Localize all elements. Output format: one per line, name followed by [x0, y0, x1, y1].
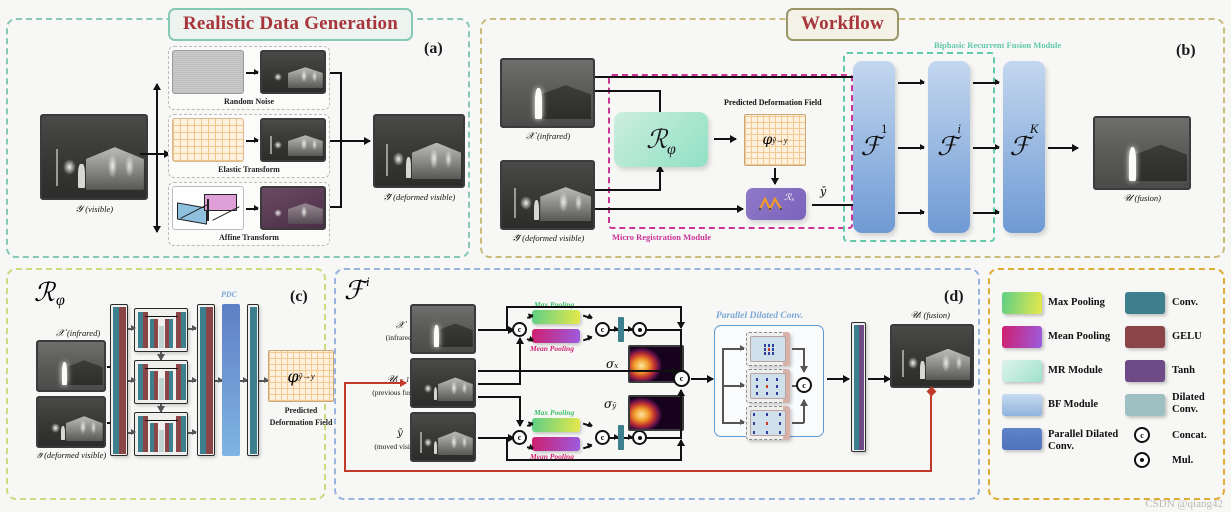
spatial-transform-symbol: ℛ — [784, 192, 791, 203]
panel-c-deformed-image — [36, 396, 106, 448]
panel-d-recurrent-return-vline — [344, 382, 346, 472]
deformed-visible-image — [373, 114, 465, 188]
panel-d-pdc-to-k2 — [722, 385, 744, 387]
legend-label-concat: Concat. — [1172, 430, 1207, 442]
elastic-transform-result — [260, 118, 326, 162]
branch-arrow-bottom — [156, 222, 158, 232]
panel-c-b2-out — [188, 380, 196, 382]
panel-c-b1-to-b2 — [160, 352, 162, 360]
fusion-block-1-exp: 1 — [881, 121, 888, 137]
legend-label-gelu: GELU — [1172, 331, 1202, 343]
panel-d-y-bypass-arrow — [680, 440, 682, 452]
parallel-dilated-conv-swatch — [1002, 428, 1042, 450]
visible-image-caption: 𝒴 (visible) — [40, 204, 148, 215]
panel-d-mul-bottom — [632, 430, 647, 445]
panel-d-concat3-to-mean — [527, 446, 533, 449]
panel-c-infrared-caption: 𝒳 (infrared) — [34, 328, 122, 339]
deformation-field-subscript: ỹ→y — [772, 136, 787, 145]
panel-d-concat-to-pdc — [691, 378, 713, 380]
random-noise-arrow — [246, 72, 258, 74]
panel-c-deformed-subtitle: (deformed visible) — [44, 450, 106, 460]
panel-d-u-to-concat1-vline — [519, 345, 521, 385]
deformed-to-st-arrow — [595, 208, 743, 210]
deformed-to-mr-line — [595, 189, 661, 191]
panel-c-output-caption-1: Predicted — [262, 406, 340, 415]
mul-icon — [1134, 452, 1150, 468]
panel-d-recurrent-vline — [930, 392, 932, 472]
panel-d-head-to-output — [868, 378, 890, 380]
panel-d-concat4-to-conv-bottom — [610, 437, 618, 439]
panel-d-concat-3: c — [512, 430, 527, 445]
panel-d-y-bypass-vline — [506, 437, 508, 461]
panel-c-conv-to-output — [259, 380, 268, 382]
spatial-transform-block: ℛs — [746, 188, 806, 220]
panel-b-title: Workflow — [786, 8, 899, 41]
panel-d-tag: (d) — [944, 288, 964, 306]
panel-c-stem-to-b3 — [128, 432, 135, 434]
affine-transform-arrow — [246, 208, 258, 210]
workflow-fusion-symbol: 𝒰 — [1123, 193, 1132, 204]
panel-c-stem-block — [110, 304, 128, 456]
panel-d-mean-pool-label-top: Mean Pooling — [530, 344, 574, 353]
panel-d-concat3-to-max — [527, 423, 533, 426]
panel-d-output-head — [851, 322, 866, 452]
biphasic-fusion-module-label: Biphasic Recurrent Fusion Module — [934, 40, 1061, 50]
panel-c-infrared-image — [36, 340, 106, 392]
watermark: CSDN @qiang42 — [1145, 498, 1223, 510]
panel-d-y-bypass-line — [506, 459, 682, 461]
affine-transform-label: Affine Transform — [168, 233, 330, 242]
visible-image — [40, 114, 148, 200]
panel-d-title-exp: i — [366, 274, 370, 290]
panel-d-input-y-symbol: ȳ — [397, 428, 403, 439]
panel-d-output-index: i — [919, 312, 921, 320]
panel-d-x-bypass-vline — [506, 308, 508, 330]
panel-c-infrared-subtitle: (infrared) — [67, 328, 100, 338]
panel-c-title-subscript: φ — [56, 292, 65, 310]
panel-c-b2-to-b3 — [160, 404, 162, 412]
panel-c-infrared-symbol: 𝒳 — [56, 328, 65, 339]
panel-c-pdc-label: PDC — [221, 290, 237, 299]
fusion-block-k-exp: K — [1030, 121, 1039, 137]
panel-d-recurrent-hline — [344, 470, 932, 472]
panel-d-pdc-to-k1 — [722, 348, 744, 350]
moved-visible-symbol: ȳ — [820, 185, 826, 198]
branch-arrow-top — [156, 84, 158, 94]
legend-label-bf-module: BF Module — [1048, 399, 1098, 411]
panel-c-merge-to-pdc — [215, 380, 222, 382]
workflow-deformed-visible-symbol: 𝒴̃ — [512, 233, 520, 244]
panel-d-pdc-to-k3 — [722, 422, 744, 424]
workflow-deformed-visible-image — [500, 160, 595, 230]
workflow-deformed-visible-caption: 𝒴̃ (deformed visible) — [484, 233, 612, 244]
dilated-conv-swatch — [1125, 394, 1165, 416]
panel-d-output-caption: 𝒰i (fusion) — [882, 310, 978, 321]
panel-d-pdc-to-head — [827, 378, 849, 380]
tanh-swatch — [1125, 360, 1165, 382]
legend-label-dilated-conv: Dilated Conv. — [1172, 392, 1218, 416]
spatial-transform-subscript: s — [791, 196, 794, 203]
panel-c-merge-block — [197, 304, 215, 456]
fusion-block-1: ℱ1 — [853, 61, 895, 233]
panel-d-mul-bottom-to-concat — [680, 390, 682, 404]
panel-d-dilated-kernel-1 — [746, 332, 790, 366]
concat-icon: c — [1134, 427, 1150, 443]
panel-d-input-x-symbol: 𝒳 — [396, 320, 405, 331]
panel-d-x-bypass-line — [506, 306, 682, 308]
panel-d-concat-1: c — [512, 322, 527, 337]
panel-d-mean-pool-top — [532, 329, 580, 343]
fi-to-fk-arrow-bot — [973, 212, 999, 214]
workflow-fusion-caption: 𝒰 (fusion) — [1090, 193, 1194, 204]
mean-pooling-swatch — [1002, 326, 1042, 348]
max-pooling-swatch — [1002, 292, 1042, 314]
mr-module-swatch — [1002, 360, 1042, 382]
panel-d-mean-pool-bottom — [532, 437, 580, 451]
panel-d-fusion-output-image — [890, 324, 974, 388]
elastic-transform-label: Elastic Transform — [168, 165, 330, 174]
workflow-infrared-caption: 𝒳 (infrared) — [492, 131, 604, 142]
affine-transform-result — [260, 186, 326, 230]
panel-d-moved-visible-image — [410, 412, 476, 462]
panel-d-x-to-concat1 — [478, 329, 514, 331]
panel-d-u-to-concat1-arrow — [519, 338, 521, 350]
random-noise-result — [260, 50, 326, 94]
fusion-block-i: ℱi — [928, 61, 970, 233]
bf-module-swatch — [1002, 394, 1042, 416]
elastic-grid-tile — [172, 118, 244, 162]
merge-bot-line — [330, 206, 342, 208]
fi-to-fk-arrow-mid — [973, 147, 999, 149]
workflow-deformed-visible-subtitle: (deformed visible) — [522, 233, 584, 243]
panel-c-tag: (c) — [290, 288, 308, 306]
conv-swatch — [1125, 292, 1165, 314]
panel-d-concat-4: c — [595, 430, 610, 445]
legend-label-conv: Conv. — [1172, 297, 1198, 309]
panel-d-max-pool-bottom — [532, 418, 580, 432]
workflow-infrared-symbol: 𝒳 — [526, 131, 535, 142]
deformation-field-tile: φỹ→y — [744, 114, 806, 166]
panel-c-pdc-to-conv — [240, 380, 247, 382]
panel-d-conv-to-mul-top — [624, 329, 632, 331]
panel-d-x-bypass-arrow — [680, 316, 682, 328]
panel-d-dilated-kernel-3 — [746, 406, 790, 440]
panel-c-final-conv-block — [247, 304, 259, 456]
panel-d-concat1-to-mean — [527, 338, 533, 341]
legend-label-parallel-dilated-conv: Parallel Dilated Conv. — [1048, 429, 1122, 453]
panel-c-b3-out — [188, 432, 196, 434]
fk-to-output-arrow — [1048, 147, 1078, 149]
panel-d-u-to-concat3-arrow — [519, 414, 521, 426]
panel-d-sigma-y-label: σȳ — [604, 397, 616, 411]
deformed-visible-subtitle: (deformed visible) — [393, 192, 455, 202]
panel-d-output-subtitle: (fusion) — [924, 310, 950, 320]
panel-d-previous-fusion-image — [410, 358, 476, 408]
mr-module-block: ℛφ — [614, 112, 708, 167]
elastic-transform-arrow — [246, 140, 258, 142]
panel-d-concat2-to-conv-top — [610, 329, 618, 331]
panel-c-deformed-symbol: 𝒴̃ — [36, 451, 42, 460]
workflow-infrared-subtitle: (infrared) — [537, 131, 570, 141]
merge-top-line — [330, 72, 342, 74]
deformed-visible-symbol: 𝒴̄ — [383, 192, 391, 203]
panel-d-infrared-image — [410, 304, 476, 354]
branch-line-up — [156, 86, 158, 160]
visible-symbol: 𝒴 — [75, 204, 83, 215]
panel-c-output-subscript: ỹ→y — [299, 371, 315, 381]
deformation-to-st-arrow — [774, 168, 776, 184]
branch-arrow-middle — [140, 153, 170, 155]
panel-d-mul-top — [632, 322, 647, 337]
micro-registration-module-label: Micro Registration Module — [612, 232, 711, 242]
mr-module-symbol: ℛ — [646, 125, 667, 155]
legend-label-mul: Mul. — [1172, 455, 1193, 467]
panel-d-concat-2: c — [595, 322, 610, 337]
panel-d-dilated-kernel-2 — [746, 369, 790, 403]
f1-to-fi-arrow-mid — [898, 147, 924, 149]
panel-d-title-symbol: ℱ — [344, 276, 364, 306]
panel-d-max-pool-label-bottom: Max Pooling — [534, 408, 574, 417]
panel-a-tag: (a) — [424, 40, 443, 58]
panel-d-u-to-concat1-line — [478, 383, 520, 385]
warp-zigzag-icon — [758, 196, 784, 212]
panel-d-u-passthrough — [478, 370, 678, 372]
panel-d-conv-to-mul-bottom — [624, 437, 632, 439]
panel-c-b1-out — [188, 328, 196, 330]
panel-d-mul-bottom-out — [646, 437, 682, 439]
visible-subtitle: (visible) — [85, 204, 113, 214]
panel-c-stem-to-b1 — [128, 328, 135, 330]
merge-arrow — [340, 140, 370, 142]
panel-d-max-pool-top — [532, 310, 580, 324]
panel-c-output-caption-2: Deformation Field — [258, 418, 344, 427]
fusion-block-1-symbol: ℱ — [861, 132, 881, 162]
panel-b-tag: (b) — [1176, 42, 1196, 60]
fusion-block-i-exp: i — [957, 121, 961, 137]
predicted-deformation-field-title: Predicted Deformation Field — [724, 98, 822, 107]
panel-d-sigma-x-label: σx — [606, 357, 618, 371]
panel-d-k3-to-concat — [803, 400, 805, 410]
fusion-block-k-symbol: ℱ — [1009, 132, 1029, 162]
panel-c-pdc-block — [222, 304, 240, 456]
f1-to-fi-arrow-bot — [898, 212, 924, 214]
deformation-field-symbol: φ — [763, 132, 773, 148]
panel-d-y-to-concat3 — [478, 437, 514, 439]
mr-to-deformation-arrow — [714, 138, 736, 140]
panel-d-concat-central: c — [673, 370, 690, 387]
infrared-to-fusion-arrow — [595, 76, 863, 78]
panel-c-unet-block-3 — [134, 412, 188, 456]
branch-line-down — [156, 156, 158, 232]
panel-c-deformed-caption: 𝒴̃ (deformed visible) — [20, 450, 122, 461]
panel-d-k1-to-concat — [803, 362, 805, 372]
panel-a-title: Realistic Data Generation — [168, 8, 413, 41]
panel-d-u-to-concat3-line — [478, 396, 520, 398]
fusion-block-i-symbol: ℱ — [937, 132, 957, 162]
affine-cube-icon — [177, 191, 239, 225]
affine-cube-tile — [172, 186, 244, 230]
deformed-visible-caption: 𝒴̄ (deformed visible) — [360, 192, 478, 203]
panel-d-concat-pdc-out: c — [796, 377, 812, 393]
panel-d-pdc-label: Parallel Dilated Conv. — [716, 311, 803, 321]
panel-c-unet-block-2 — [134, 360, 188, 404]
fi-to-fk-arrow-top — [973, 82, 999, 84]
f1-to-fi-arrow-top — [898, 82, 924, 84]
panel-c-stem-to-b2 — [128, 380, 135, 382]
panel-c-unet-block-1 — [134, 308, 188, 352]
legend-label-mean-pooling: Mean Pooling — [1048, 331, 1110, 343]
panel-c-title-symbol: ℛ — [34, 278, 55, 308]
panel-d-output-symbol: 𝒰 — [910, 310, 919, 321]
panel-d-mul-top-out — [646, 329, 682, 331]
panel-c-output-symbol: φ — [287, 367, 298, 386]
legend-label-max-pooling: Max Pooling — [1048, 297, 1105, 309]
legend-label-mr-module: MR Module — [1048, 365, 1103, 377]
workflow-fusion-output-image — [1093, 116, 1191, 190]
fusion-block-k: ℱK — [1003, 61, 1045, 233]
panel-d-concat1-to-max — [527, 315, 533, 318]
random-noise-label: Random Noise — [168, 97, 330, 106]
panel-d-sigma-y-map — [628, 395, 684, 431]
panel-d-recurrent-arrow — [344, 382, 406, 384]
gelu-swatch — [1125, 326, 1165, 348]
workflow-infrared-image — [500, 58, 595, 128]
deformed-to-mr-arrow — [659, 166, 661, 180]
legend-label-tanh: Tanh — [1172, 365, 1195, 377]
infrared-to-mr-line — [595, 90, 661, 92]
random-noise-tile — [172, 50, 244, 94]
workflow-fusion-subtitle: (fusion) — [1135, 193, 1161, 203]
mr-module-subscript: φ — [667, 141, 676, 159]
panel-c-deformation-field: φỹ→y — [268, 350, 334, 402]
